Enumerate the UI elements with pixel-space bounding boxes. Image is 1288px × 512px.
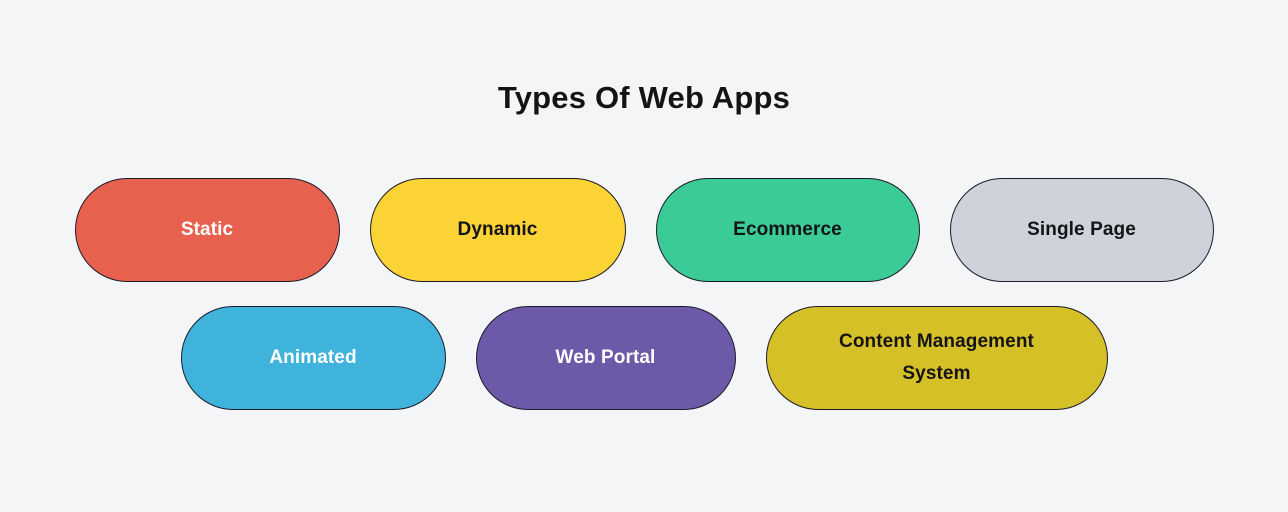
- web-app-types-row-two: Animated Web Portal Content Management S…: [0, 305, 1288, 411]
- pill-content-management-system[interactable]: Content Management System: [766, 306, 1108, 410]
- pill-dynamic-label: Dynamic: [458, 213, 538, 246]
- pill-ecommerce-label: Ecommerce: [733, 213, 842, 246]
- web-app-types-row-one: Static Dynamic Ecommerce Single Page: [0, 177, 1288, 283]
- pill-web-portal[interactable]: Web Portal: [476, 306, 736, 410]
- pill-dynamic[interactable]: Dynamic: [370, 178, 626, 282]
- pill-single-page-label: Single Page: [1027, 213, 1136, 246]
- diagram-canvas: Types Of Web Apps Static Dynamic Ecommer…: [0, 0, 1288, 512]
- pill-static[interactable]: Static: [75, 178, 340, 282]
- page-title: Types Of Web Apps: [0, 76, 1288, 120]
- pill-single-page[interactable]: Single Page: [950, 178, 1214, 282]
- pill-content-management-system-label: Content Management System: [839, 326, 1034, 391]
- pill-animated[interactable]: Animated: [181, 306, 446, 410]
- pill-web-portal-label: Web Portal: [556, 341, 656, 374]
- pill-static-label: Static: [181, 213, 233, 246]
- pill-ecommerce[interactable]: Ecommerce: [656, 178, 920, 282]
- pill-animated-label: Animated: [269, 341, 356, 374]
